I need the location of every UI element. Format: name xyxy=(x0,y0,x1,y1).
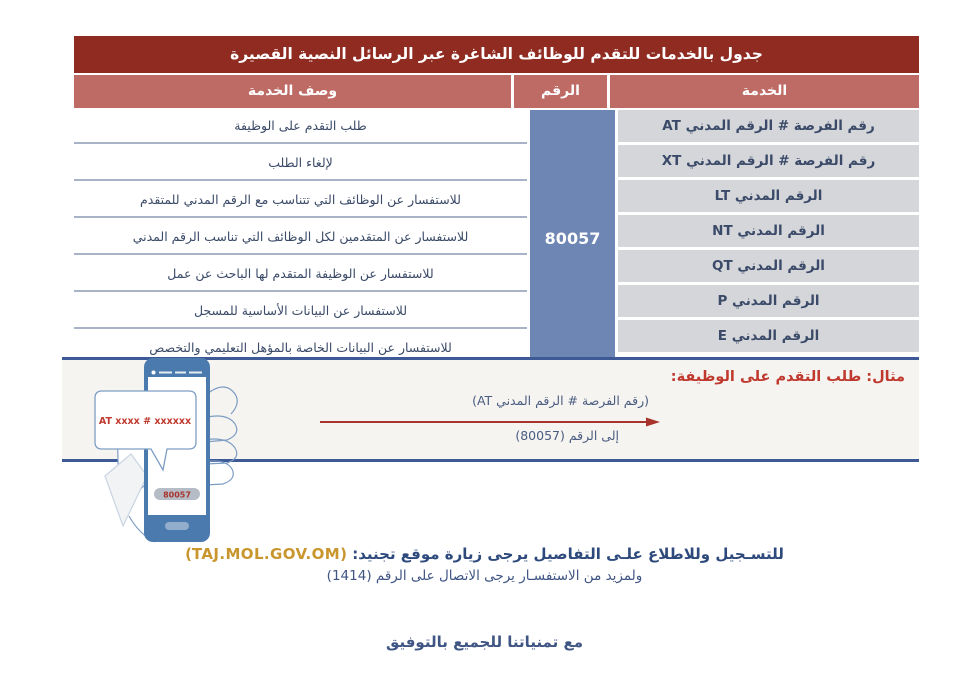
table-row: رقم الفرصة # الرقم المدني XT xyxy=(618,145,919,177)
column-header-description: وصف الخدمة xyxy=(74,75,511,108)
phone-shortcode-label: 80057 xyxy=(163,491,191,500)
registration-line: للتسـجيل وللاطلاع علـى التفاصيل يرجى زيا… xyxy=(0,545,969,563)
table-row: الرقم المدني LT xyxy=(618,180,919,212)
table-row: للاستفسار عن المتقدمين لكل الوظائف التي … xyxy=(74,221,527,255)
registration-text: للتسـجيل وللاطلاع علـى التفاصيل يرجى زيا… xyxy=(352,545,784,563)
service-column: رقم الفرصة # الرقم المدني AT رقم الفرصة … xyxy=(618,110,919,366)
table-row: لإلغاء الطلب xyxy=(74,147,527,181)
table-row: للاستفسار عن الوظائف التي تتناسب مع الرق… xyxy=(74,184,527,218)
table-row: الرقم المدني P xyxy=(618,285,919,317)
description-column: طلب التقدم على الوظيفة لإلغاء الطلب للاس… xyxy=(74,110,527,366)
table-title: جدول بالخدمات للتقدم للوظائف الشاغرة عبر… xyxy=(74,36,919,73)
example-heading: مثال: طلب التقدم على الوظيفة: xyxy=(671,369,905,385)
table-row: الرقم المدني NT xyxy=(618,215,919,247)
sms-bubble-text: AT xxxx # xxxxxx xyxy=(99,416,191,427)
closing-message: مع تمنياتنا للجميع بالتوفيق xyxy=(0,633,969,651)
example-destination: إلى الرقم (80057) xyxy=(515,428,619,443)
table-row: طلب التقدم على الوظيفة xyxy=(74,110,527,144)
column-header-service: الخدمة xyxy=(610,75,919,108)
example-message-format: (رقم الفرصة # الرقم المدني AT) xyxy=(472,393,649,408)
table-header-row: الخدمة الرقم وصف الخدمة xyxy=(74,75,919,108)
table-body: رقم الفرصة # الرقم المدني AT رقم الفرصة … xyxy=(74,110,919,366)
contact-line: ولمزيد من الاستفسـار يرجى الاتصال على ال… xyxy=(0,568,969,584)
table-row: للاستفسار عن البيانات الأساسية للمسجل xyxy=(74,295,527,329)
shortcode-cell: 80057 xyxy=(530,110,615,366)
column-header-number: الرقم xyxy=(514,75,607,108)
table-row: الرقم المدني E xyxy=(618,320,919,352)
phone-sms-illustration: 80057 AT xxxx # xxxxxx xyxy=(85,358,320,548)
arrow-right-icon xyxy=(320,416,660,428)
table-row: رقم الفرصة # الرقم المدني AT xyxy=(618,110,919,142)
portal-url[interactable]: (TAJ.MOL.GOV.OM) xyxy=(185,545,347,563)
table-row: للاستفسار عن الوظيفة المتقدم لها الباحث … xyxy=(74,258,527,292)
services-table: جدول بالخدمات للتقدم للوظائف الشاغرة عبر… xyxy=(74,36,919,366)
phone-status-bar xyxy=(148,368,206,377)
footer: للتسـجيل وللاطلاع علـى التفاصيل يرجى زيا… xyxy=(0,545,969,584)
table-row: الرقم المدني QT xyxy=(618,250,919,282)
phone-home-button xyxy=(165,522,189,530)
